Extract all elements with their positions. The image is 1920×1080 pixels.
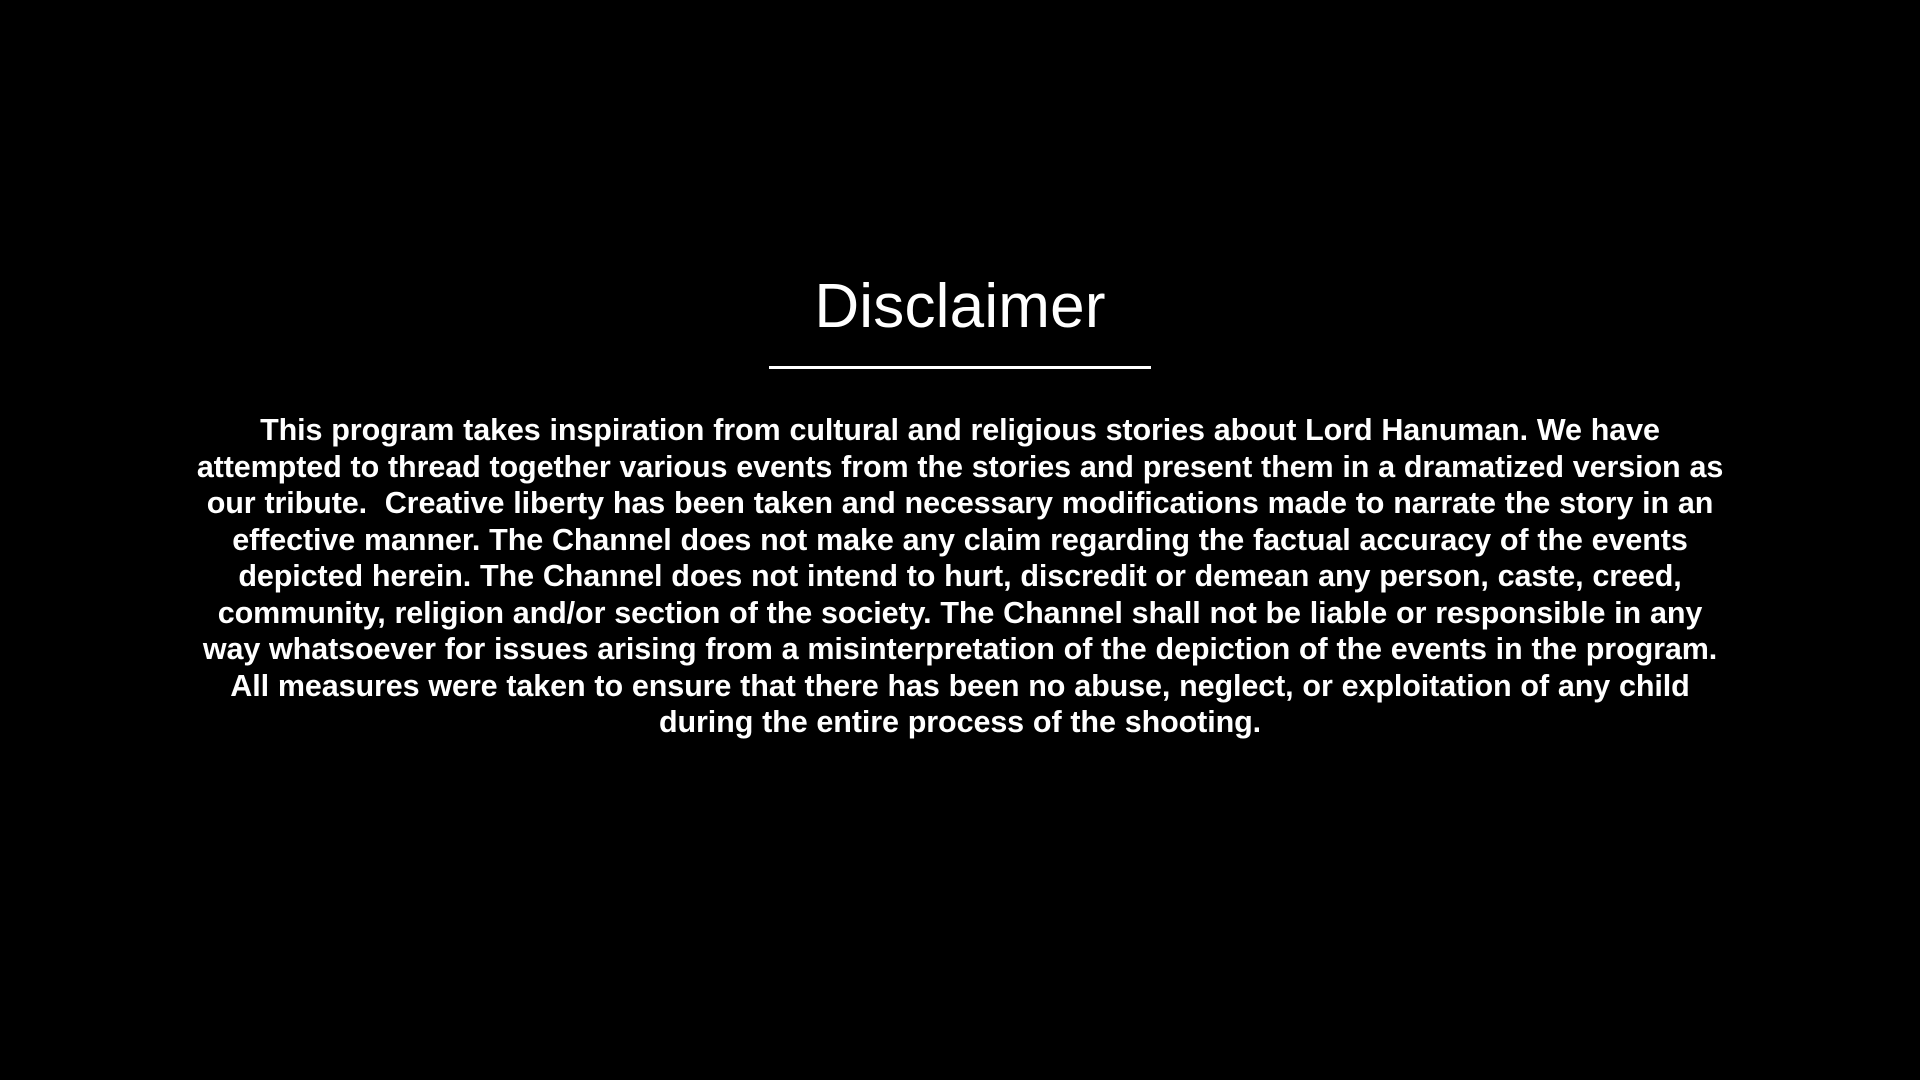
page-title: Disclaimer [0, 272, 1920, 342]
title-underline-rule [769, 366, 1151, 369]
disclaimer-body-text: This program takes inspiration from cult… [190, 412, 1730, 741]
disclaimer-body-block: This program takes inspiration from cult… [190, 412, 1730, 741]
title-block: Disclaimer [0, 272, 1920, 369]
disclaimer-slide: Disclaimer This program takes inspiratio… [0, 0, 1920, 1080]
